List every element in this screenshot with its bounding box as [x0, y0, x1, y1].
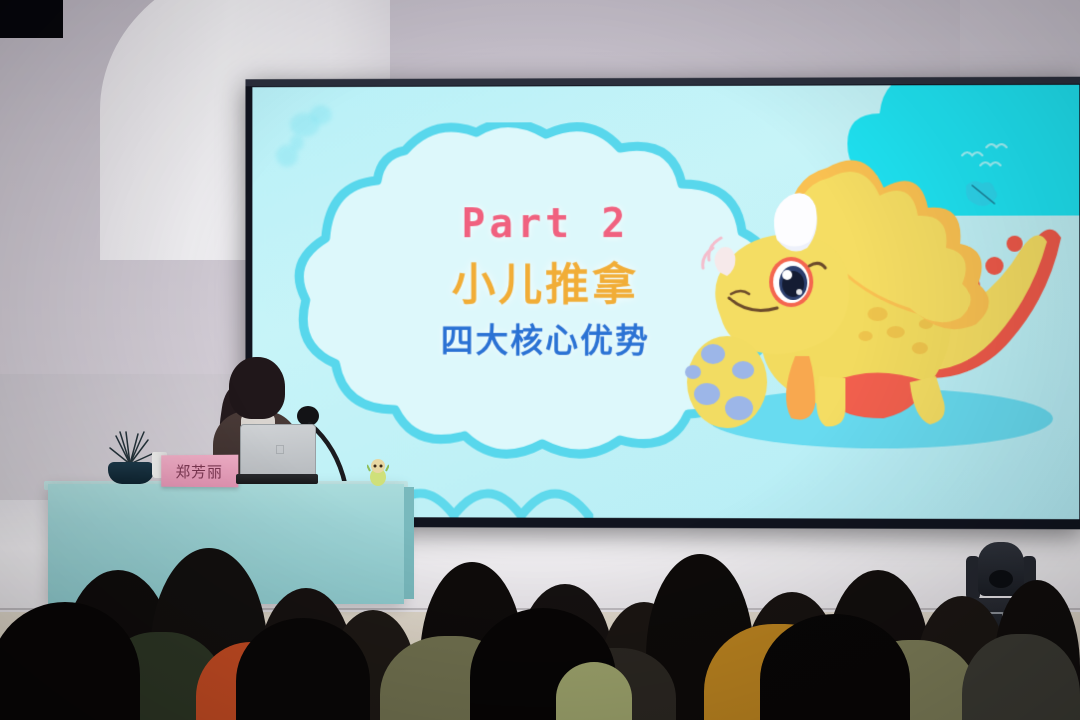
figurine-icon — [367, 455, 389, 487]
slide-text-block: Part 2 小儿推拿 四大核心优势 — [401, 204, 690, 357]
bonsai-plant-icon — [100, 430, 160, 486]
laptop-lid:  — [240, 424, 316, 478]
ceiling-panel — [0, 0, 63, 38]
plant-pot — [108, 462, 154, 484]
slide-title: 小儿推拿 — [401, 264, 690, 308]
apple-logo-icon:  — [275, 443, 286, 456]
presenter-hair — [229, 357, 285, 419]
dinosaur-mascot-icon — [669, 125, 1071, 467]
lecture-hall-photo: Part 2 小儿推拿 四大核心优势 — [0, 0, 1080, 720]
slide-subtitle: 四大核心优势 — [401, 324, 690, 357]
laptop:  — [238, 424, 316, 486]
slide-part-label: Part 2 — [401, 204, 690, 244]
name-placard: 郑芳丽 — [161, 455, 238, 488]
audience — [0, 490, 1080, 720]
plant-foliage-icon — [106, 430, 156, 466]
laptop-base — [236, 474, 318, 484]
name-placard-text: 郑芳丽 — [176, 460, 223, 481]
